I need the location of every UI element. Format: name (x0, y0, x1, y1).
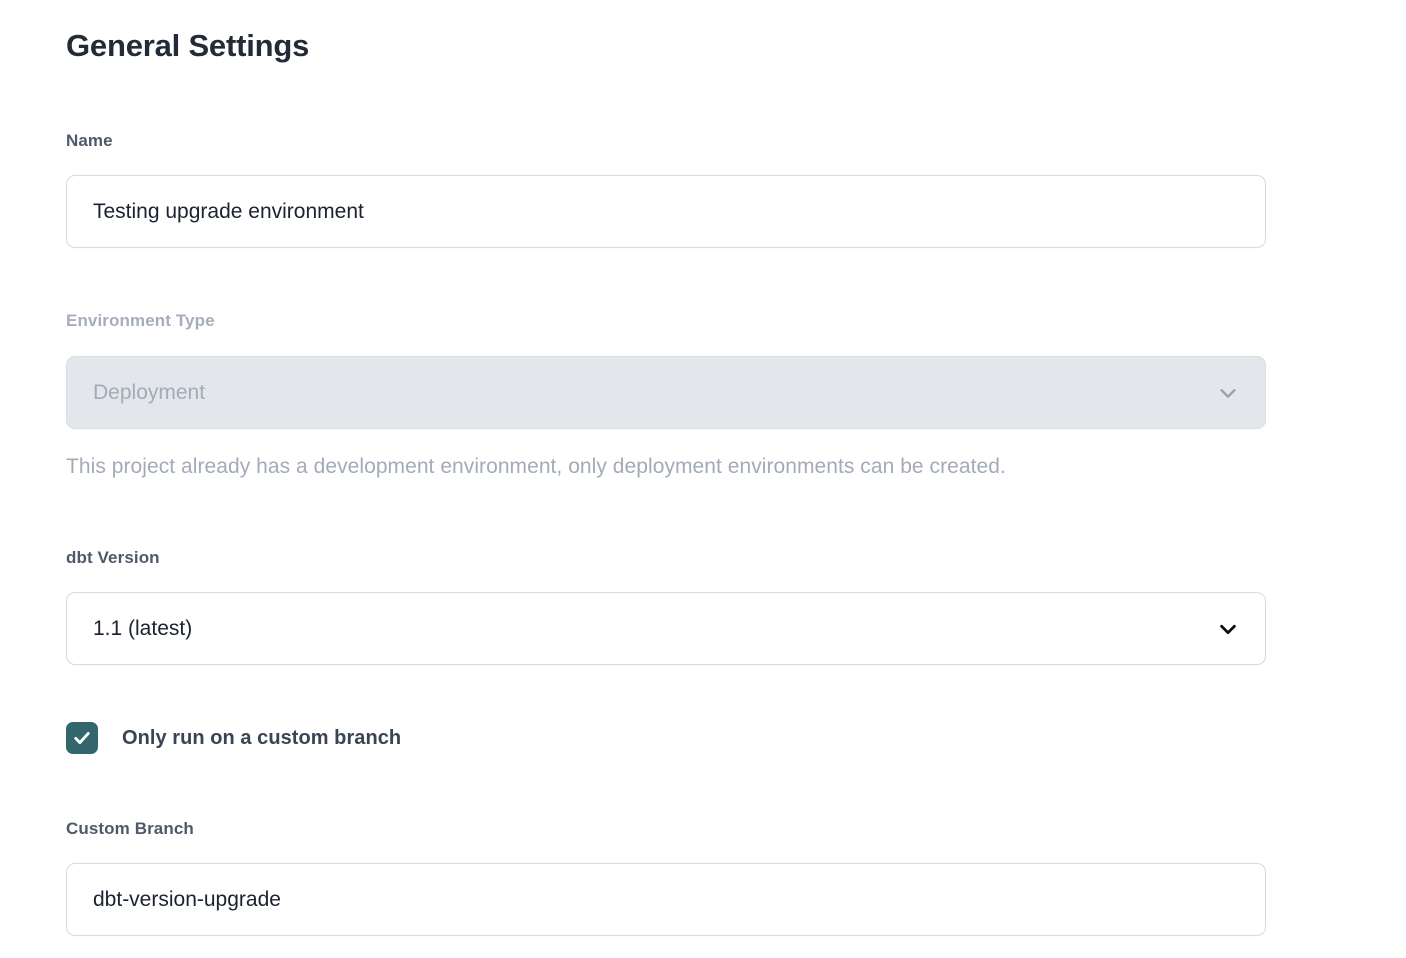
chevron-down-icon[interactable] (1217, 618, 1239, 640)
environment-type-label: Environment Type (66, 310, 215, 332)
check-icon (72, 728, 92, 748)
dbt-version-label: dbt Version (66, 547, 160, 569)
name-input[interactable]: Testing upgrade environment (66, 175, 1266, 248)
custom-branch-field-label: Custom Branch (66, 818, 194, 840)
chevron-down-icon (1217, 382, 1239, 404)
custom-branch-checkbox-label: Only run on a custom branch (122, 727, 401, 750)
custom-branch-checkbox-row[interactable]: Only run on a custom branch (66, 722, 401, 754)
custom-branch-checkbox[interactable] (66, 722, 98, 754)
name-input-value: Testing upgrade environment (93, 200, 1239, 224)
name-field-label: Name (66, 130, 113, 152)
page-title: General Settings (66, 26, 309, 66)
custom-branch-input[interactable]: dbt-version-upgrade (66, 863, 1266, 936)
general-settings-page: General Settings Name Testing upgrade en… (0, 0, 1406, 958)
environment-type-select: Deployment (66, 356, 1266, 429)
dbt-version-select[interactable]: 1.1 (latest) (66, 592, 1266, 665)
environment-type-helper-text: This project already has a development e… (66, 453, 1006, 481)
environment-type-value: Deployment (93, 381, 1203, 405)
custom-branch-input-value: dbt-version-upgrade (93, 888, 1239, 912)
dbt-version-value: 1.1 (latest) (93, 617, 1203, 641)
